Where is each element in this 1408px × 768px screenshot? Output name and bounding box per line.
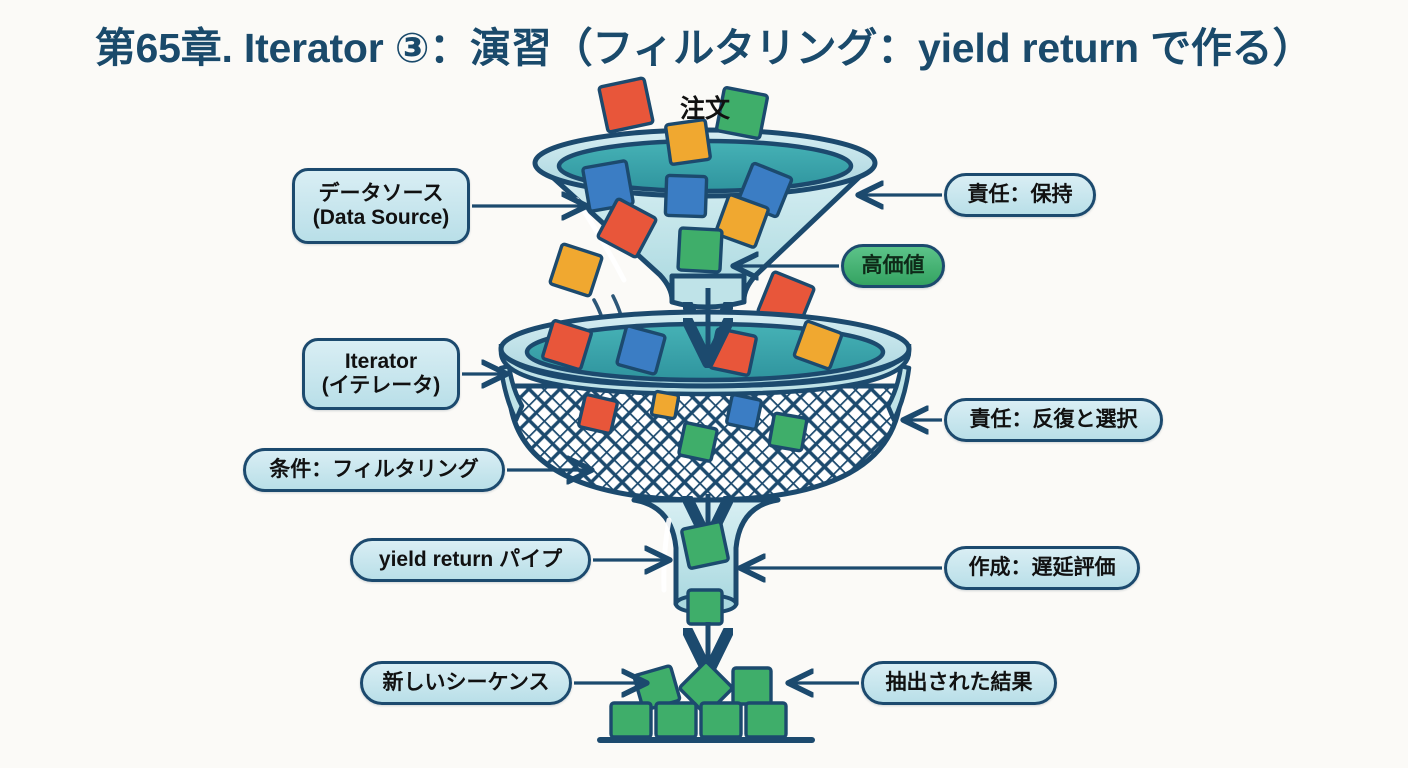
label-text-high-value: 高価値 xyxy=(862,254,925,278)
pipe-group xyxy=(634,494,778,662)
label-creation-lazy-eval: 作成：遅延評価 xyxy=(944,546,1140,590)
label-text-new-sequence: 新しいシーケンス xyxy=(383,671,550,695)
funnel-filter-diagram: 注文 xyxy=(0,0,1408,768)
label-text-data-source: データソース (Data Source) xyxy=(313,182,450,229)
output-square xyxy=(701,703,741,737)
label-text-extracted-result: 抽出された結果 xyxy=(886,671,1033,695)
data-item-square xyxy=(678,228,722,272)
output-square xyxy=(733,668,771,704)
label-text-creation-lazy-eval: 作成：遅延評価 xyxy=(969,556,1116,580)
sieve-mesh-square xyxy=(651,391,679,419)
label-extracted-result: 抽出された結果 xyxy=(861,661,1057,705)
output-square xyxy=(656,703,696,737)
sieve-mesh-square xyxy=(769,413,807,451)
label-text-responsibility-hold: 責任：保持 xyxy=(968,183,1073,207)
falling-item-square xyxy=(550,244,603,297)
label-text-yield-return-pipe: yield return パイプ xyxy=(379,548,562,572)
orders-caption: 注文 xyxy=(680,94,731,123)
output-stack-group xyxy=(600,661,812,740)
label-text-iterator: Iterator (イテレータ) xyxy=(322,350,441,397)
label-data-source: データソース (Data Source) xyxy=(292,168,470,244)
label-condition-filtering: 条件：フィルタリング xyxy=(243,448,505,492)
label-new-sequence: 新しいシーケンス xyxy=(360,661,572,705)
label-text-responsibility-iterate-select: 責任：反復と選択 xyxy=(970,408,1138,432)
pipe-highlight xyxy=(664,520,669,590)
sieve-mesh-square xyxy=(578,394,618,434)
label-high-value: 高価値 xyxy=(841,244,945,288)
sieve-mesh-square xyxy=(678,422,717,461)
sieve-held-square xyxy=(709,328,756,375)
sieve-mesh-square xyxy=(726,394,762,430)
output-square xyxy=(746,703,786,737)
label-iterator: Iterator (イテレータ) xyxy=(302,338,460,410)
output-square xyxy=(611,703,651,737)
label-responsibility-hold: 責任：保持 xyxy=(944,173,1096,217)
data-item-square xyxy=(665,119,710,164)
data-item-square xyxy=(599,78,654,133)
data-item-square xyxy=(665,175,706,216)
slide-canvas: 第65章. Iterator ③：演習（フィルタリング：yield return… xyxy=(0,0,1408,768)
pipe-item-square xyxy=(681,521,728,568)
label-text-condition-filtering: 条件：フィルタリング xyxy=(269,458,479,482)
pipe-item-square xyxy=(688,590,722,624)
label-responsibility-iterate-select: 責任：反復と選択 xyxy=(944,398,1163,442)
sieve-held-square xyxy=(617,326,666,375)
label-yield-return-pipe: yield return パイプ xyxy=(350,538,591,582)
